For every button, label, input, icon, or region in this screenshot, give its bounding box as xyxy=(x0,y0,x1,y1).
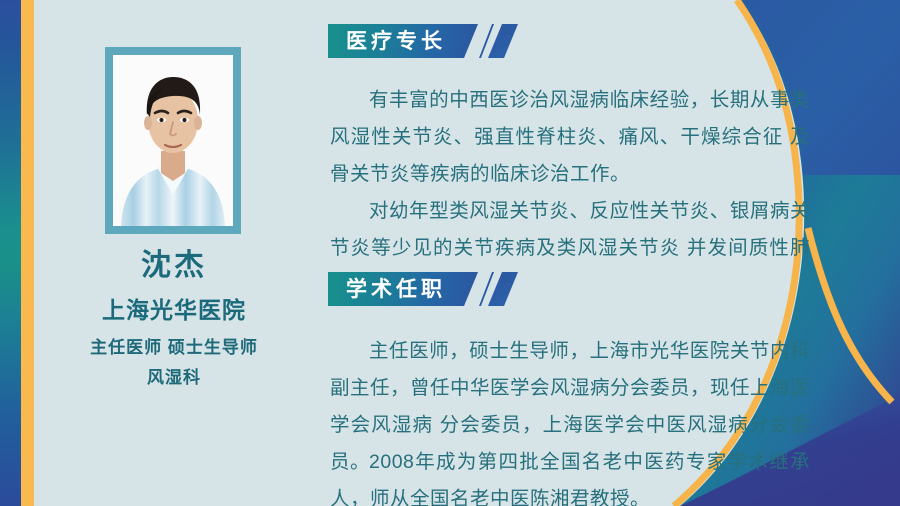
banner-slash-thick-icon xyxy=(488,24,518,58)
left-orange-stripe xyxy=(21,0,34,506)
doctor-portrait-image xyxy=(113,55,233,226)
name-block: 沈杰 上海光华医院 主任医师 硕士生导师 风湿科 xyxy=(34,248,314,389)
doctor-title: 主任医师 硕士生导师 xyxy=(34,337,314,359)
paragraph-specialty-1: 有丰富的中西医诊治风湿病临床经验，长期从事类风湿性关节炎、强直性脊柱炎、痛风、干… xyxy=(330,82,810,193)
doctor-hospital: 上海光华医院 xyxy=(34,296,314,325)
banner-band: 学术任职 xyxy=(328,272,478,306)
doctor-name: 沈杰 xyxy=(34,248,314,284)
doctor-department: 风湿科 xyxy=(34,367,314,389)
portrait-photo-container xyxy=(113,55,233,226)
banner-label: 学术任职 xyxy=(328,279,446,300)
portrait-frame xyxy=(105,47,241,234)
banner-label: 医疗专长 xyxy=(328,31,446,52)
banner-band: 医疗专长 xyxy=(328,24,478,58)
left-gradient-bar xyxy=(0,0,21,506)
doctor-profile-card: 沈杰 上海光华医院 主任医师 硕士生导师 风湿科 医疗专长 有丰富的中西医诊治风… xyxy=(0,0,900,506)
paragraph-academic-2: 2008年成为第四批全国名老中医药专家学术继承人，师从全国名老中医陈湘君教授。 xyxy=(330,444,810,506)
